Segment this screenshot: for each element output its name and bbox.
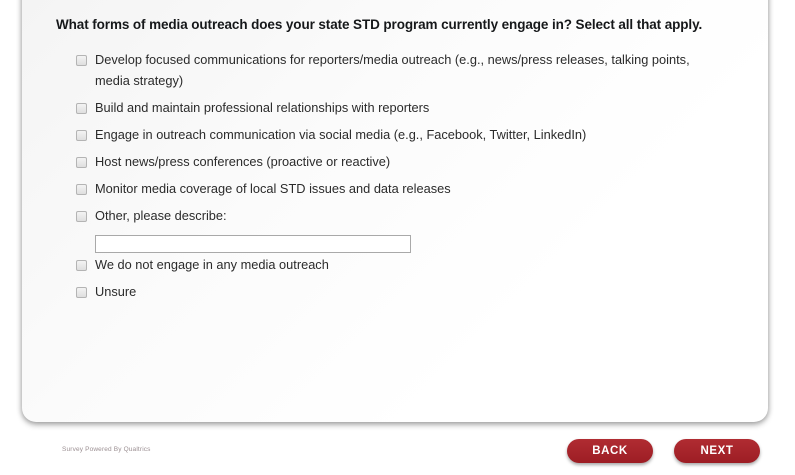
choice-row[interactable]: Host news/press conferences (proactive o… <box>76 154 696 172</box>
powered-by-qualtrics-label: Survey Powered By Qualtrics <box>62 446 151 453</box>
choice-label[interactable]: Host news/press conferences (proactive o… <box>95 151 390 172</box>
choice-row[interactable]: Build and maintain professional relation… <box>76 100 696 118</box>
question-title: What forms of media outreach does your s… <box>56 16 716 34</box>
checkbox-unchecked-icon[interactable] <box>76 287 87 298</box>
other-text-input[interactable] <box>95 235 411 253</box>
choice-list: Develop focused communications for repor… <box>76 52 696 302</box>
checkbox-unchecked-icon[interactable] <box>76 157 87 168</box>
survey-panel: What forms of media outreach does your s… <box>22 0 768 422</box>
choice-label[interactable]: Engage in outreach communication via soc… <box>95 124 586 145</box>
checkbox-unchecked-icon[interactable] <box>76 184 87 195</box>
choice-label[interactable]: Other, please describe: <box>95 205 227 226</box>
checkbox-unchecked-icon[interactable] <box>76 55 87 66</box>
nav-buttons: BACK NEXT <box>567 439 760 463</box>
next-button[interactable]: NEXT <box>674 439 760 463</box>
checkbox-unchecked-icon[interactable] <box>76 103 87 114</box>
checkbox-unchecked-icon[interactable] <box>76 130 87 141</box>
choice-label[interactable]: Build and maintain professional relation… <box>95 97 429 118</box>
choice-row[interactable]: Engage in outreach communication via soc… <box>76 127 696 145</box>
survey-footer: Survey Powered By Qualtrics BACK NEXT <box>0 432 795 475</box>
choice-label[interactable]: We do not engage in any media outreach <box>95 254 329 275</box>
choice-row[interactable]: Monitor media coverage of local STD issu… <box>76 181 696 199</box>
checkbox-unchecked-icon[interactable] <box>76 211 87 222</box>
back-button[interactable]: BACK <box>567 439 653 463</box>
choice-label[interactable]: Monitor media coverage of local STD issu… <box>95 178 451 199</box>
other-text-entry-wrap <box>95 235 696 253</box>
choice-label[interactable]: Develop focused communications for repor… <box>95 49 696 91</box>
choice-row[interactable]: Unsure <box>76 284 696 302</box>
checkbox-unchecked-icon[interactable] <box>76 260 87 271</box>
choice-label[interactable]: Unsure <box>95 281 136 302</box>
choice-row[interactable]: Develop focused communications for repor… <box>76 52 696 91</box>
question-block: What forms of media outreach does your s… <box>56 16 716 307</box>
choice-row[interactable]: Other, please describe: <box>76 208 696 226</box>
choice-row[interactable]: We do not engage in any media outreach <box>76 257 696 275</box>
